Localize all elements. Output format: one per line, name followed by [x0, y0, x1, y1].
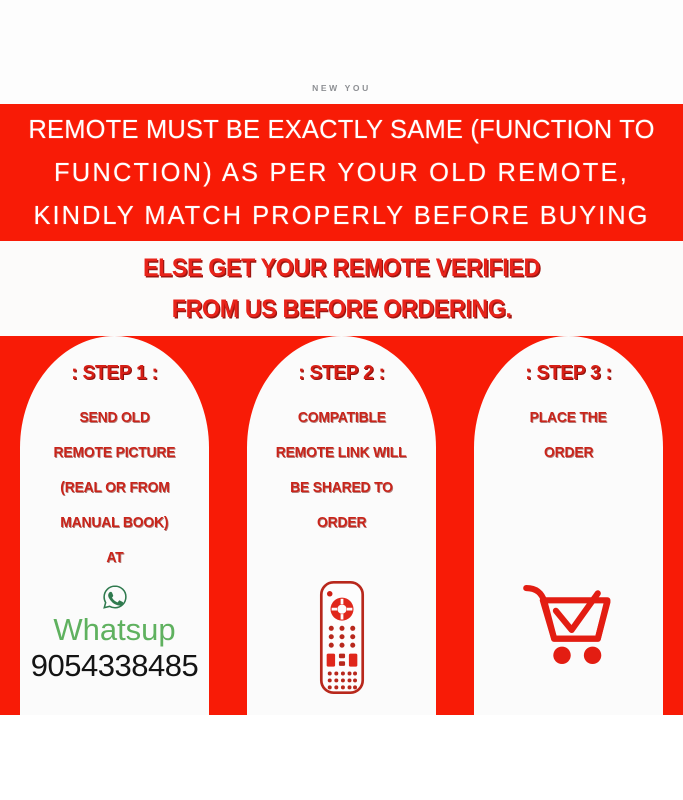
step-card-3: : STEP 3 : PLACE THE ORDER — [474, 336, 663, 715]
step-1-line-1: SEND OLD — [79, 401, 149, 436]
subheading-line-1: ELSE GET YOUR REMOTE VERIFIED — [143, 248, 540, 289]
footer-whitespace — [0, 715, 683, 800]
step-3-line-1: PLACE THE — [530, 401, 607, 436]
step-2-line-2: REMOTE LINK WILL — [276, 436, 407, 471]
remote-control-icon — [319, 580, 365, 695]
step-2-line-3: BE SHARED TO — [290, 471, 393, 506]
step-card-2: : STEP 2 : COMPATIBLE REMOTE LINK WILL B… — [247, 336, 436, 715]
step-1-line-5: AT — [106, 541, 123, 576]
subheading-block: ELSE GET YOUR REMOTE VERIFIED FROM US BE… — [0, 241, 683, 336]
promo-image: NEW YOU REMOTE MUST BE EXACTLY SAME (FUN… — [0, 0, 683, 800]
step-3-icon-slot — [521, 579, 617, 667]
whatsapp-icon — [102, 584, 128, 610]
whatsapp-label: Whatsup — [53, 612, 175, 648]
whatsapp-number: 9054338485 — [31, 648, 198, 684]
step-2-line-4: ORDER — [317, 506, 366, 541]
warning-banner-line-1: REMOTE MUST BE EXACTLY SAME (FUNCTION TO — [28, 109, 654, 152]
brand-name: NEW YOU — [0, 83, 683, 93]
step-card-1: : STEP 1 : SEND OLD REMOTE PICTURE (REAL… — [20, 336, 209, 715]
brand-bar: NEW YOU — [0, 0, 683, 104]
warning-banner: REMOTE MUST BE EXACTLY SAME (FUNCTION TO… — [0, 104, 683, 241]
steps-columns: : STEP 1 : SEND OLD REMOTE PICTURE (REAL… — [0, 336, 683, 715]
step-3-title: : STEP 3 : — [525, 362, 611, 385]
step-3-line-2: ORDER — [544, 436, 593, 471]
step-1-line-2: REMOTE PICTURE — [54, 436, 176, 471]
step-2-line-1: COMPATIBLE — [297, 401, 385, 436]
step-1-line-4: MANUAL BOOK) — [60, 506, 168, 541]
warning-banner-line-2: FUNCTION) AS PER YOUR OLD REMOTE, — [54, 152, 629, 195]
shopping-cart-check-icon — [521, 579, 617, 667]
step-2-icon-slot — [319, 580, 365, 695]
subheading-line-2: FROM US BEFORE ORDERING. — [172, 289, 512, 330]
warning-banner-line-3: KINDLY MATCH PROPERLY BEFORE BUYING — [33, 195, 649, 238]
steps-section: : STEP 1 : SEND OLD REMOTE PICTURE (REAL… — [0, 336, 683, 715]
step-1-title: : STEP 1 : — [71, 362, 157, 385]
step-1-line-3: (REAL OR FROM — [60, 471, 169, 506]
step-2-title: : STEP 2 : — [298, 362, 384, 385]
